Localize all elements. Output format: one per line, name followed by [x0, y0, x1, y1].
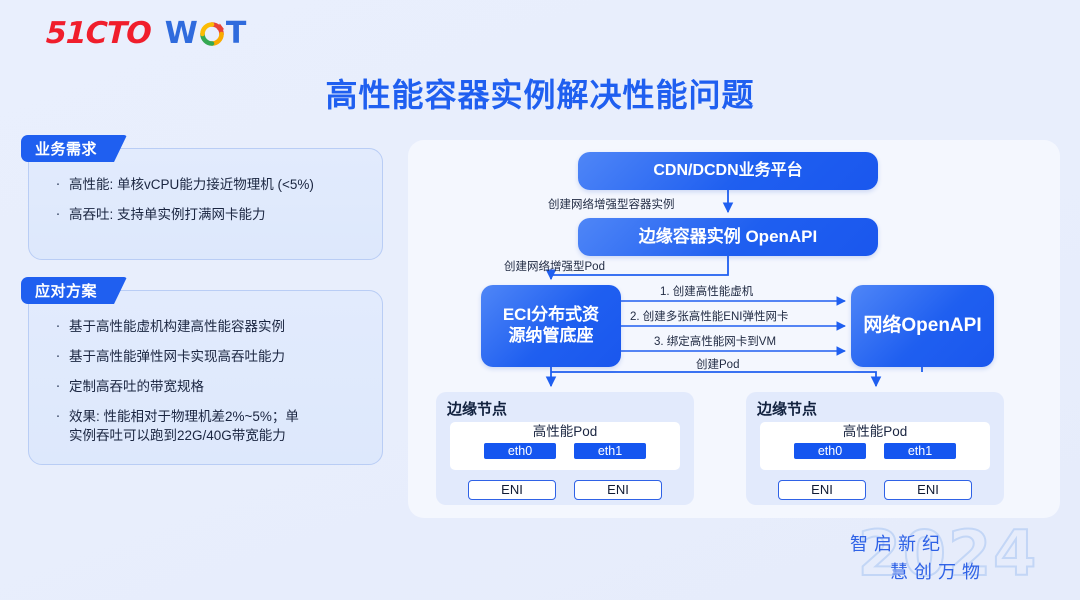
card-solution-plan: 应对方案 · 基于高性能虚机构建高性能容器实例 · 基于高性能弹性网卡实现高吞吐…: [28, 290, 383, 465]
bullet-dot-icon: ·: [47, 377, 69, 395]
node-eci-line1: ECI分布式资: [503, 305, 599, 324]
list-item-text: 高吞吐: 支持单实例打满网卡能力: [69, 205, 266, 224]
list-item-text: 基于高性能弹性网卡实现高吞吐能力: [69, 347, 285, 366]
color-cycle-ring-icon: [199, 21, 225, 47]
bullet-dot-icon: ·: [47, 317, 69, 335]
card-tab-label: 业务需求: [21, 135, 127, 162]
eni-list: ENI ENI: [450, 480, 680, 500]
pod-title: 高性能Pod: [450, 424, 680, 440]
eth0-badge[interactable]: eth0: [794, 443, 866, 459]
node-eci-line2: 源纳管底座: [509, 326, 594, 345]
card-tab-label: 应对方案: [21, 277, 127, 304]
list-item-text: 基于高性能虚机构建高性能容器实例: [69, 317, 285, 336]
list-item-text-line2: 实例吞吐可以跑到22G/40G带宽能力: [69, 426, 299, 445]
edge-label-step-3: 3. 绑定高性能网卡到VM: [654, 333, 776, 349]
node-eci-resource-base[interactable]: ECI分布式资 源纳管底座: [481, 285, 621, 367]
pod-title: 高性能Pod: [760, 424, 990, 440]
list-item-text-line1: 效果: 性能相对于物理机差2%~5%；单: [69, 409, 299, 424]
edge-label-create-enhanced-pod: 创建网络增强型Pod: [504, 258, 605, 274]
list-item: · 基于高性能虚机构建高性能容器实例: [47, 317, 366, 336]
watermark-slogan-line1: 智启新纪: [850, 530, 946, 556]
list-item-text: 定制高吞吐的带宽规格: [69, 377, 204, 396]
logo-wot: W T: [165, 16, 247, 51]
event-watermark: 2024 智启新纪 慧创万物: [838, 514, 1058, 594]
list-item: · 高性能: 单核vCPU能力接近物理机 (<5%): [47, 175, 366, 194]
brand-logo: 51CTO W T: [46, 16, 246, 51]
node-cdn-platform[interactable]: CDN/DCDN业务平台: [578, 152, 878, 190]
list-item: · 效果: 性能相对于物理机差2%~5%；单 实例吞吐可以跑到22G/40G带宽…: [47, 407, 366, 445]
card-business-requirements: 业务需求 · 高性能: 单核vCPU能力接近物理机 (<5%) · 高吞吐: 支…: [28, 148, 383, 260]
eni-box[interactable]: ENI: [574, 480, 662, 500]
edge-node-title: 边缘节点: [757, 398, 817, 419]
edge-label-step-1: 1. 创建高性能虚机: [660, 283, 753, 299]
watermark-slogan-line2: 慧创万物: [890, 558, 986, 584]
architecture-diagram-panel: CDN/DCDN业务平台 边缘容器实例 OpenAPI ECI分布式资 源纳管底…: [408, 140, 1060, 518]
list-item-text: 效果: 性能相对于物理机差2%~5%；单 实例吞吐可以跑到22G/40G带宽能力: [69, 407, 299, 445]
edge-label-step-2: 2. 创建多张高性能ENI弹性网卡: [630, 308, 788, 324]
list-item: · 基于高性能弹性网卡实现高吞吐能力: [47, 347, 366, 366]
pod-interfaces: eth0 eth1: [450, 443, 680, 459]
list-item-text: 高性能: 单核vCPU能力接近物理机 (<5%): [69, 175, 314, 194]
pod-container: 高性能Pod eth0 eth1: [450, 422, 680, 470]
card-body: · 高性能: 单核vCPU能力接近物理机 (<5%) · 高吞吐: 支持单实例打…: [29, 149, 382, 245]
bullet-dot-icon: ·: [47, 175, 69, 193]
eth0-badge[interactable]: eth0: [484, 443, 556, 459]
logo-wot-letter-w: W: [165, 16, 198, 51]
edge-node-group: 边缘节点 高性能Pod eth0 eth1 ENI ENI: [436, 392, 694, 505]
card-body: · 基于高性能虚机构建高性能容器实例 · 基于高性能弹性网卡实现高吞吐能力 · …: [29, 291, 382, 466]
eni-box[interactable]: ENI: [884, 480, 972, 500]
eni-list: ENI ENI: [760, 480, 990, 500]
eni-box[interactable]: ENI: [778, 480, 866, 500]
page-title: 高性能容器实例解决性能问题: [0, 70, 1080, 116]
pod-interfaces: eth0 eth1: [760, 443, 990, 459]
bullet-dot-icon: ·: [47, 407, 69, 425]
logo-wot-letter-t: T: [226, 16, 246, 51]
edge-label-create-pod: 创建Pod: [696, 356, 739, 372]
eth1-badge[interactable]: eth1: [884, 443, 956, 459]
edge-label-create-enhanced-instance: 创建网络增强型容器实例: [548, 196, 675, 212]
pod-container: 高性能Pod eth0 eth1: [760, 422, 990, 470]
eth1-badge[interactable]: eth1: [574, 443, 646, 459]
bullet-dot-icon: ·: [47, 205, 69, 223]
edge-node-title: 边缘节点: [447, 398, 507, 419]
list-item: · 定制高吞吐的带宽规格: [47, 377, 366, 396]
node-network-openapi[interactable]: 网络OpenAPI: [851, 285, 994, 367]
list-item: · 高吞吐: 支持单实例打满网卡能力: [47, 205, 366, 224]
logo-51cto-text: 51CTO: [45, 16, 151, 51]
eni-box[interactable]: ENI: [468, 480, 556, 500]
node-edge-container-openapi[interactable]: 边缘容器实例 OpenAPI: [578, 218, 878, 256]
bullet-dot-icon: ·: [47, 347, 69, 365]
edge-node-group: 边缘节点 高性能Pod eth0 eth1 ENI ENI: [746, 392, 1004, 505]
node-eci-label: ECI分布式资 源纳管底座: [503, 305, 599, 346]
